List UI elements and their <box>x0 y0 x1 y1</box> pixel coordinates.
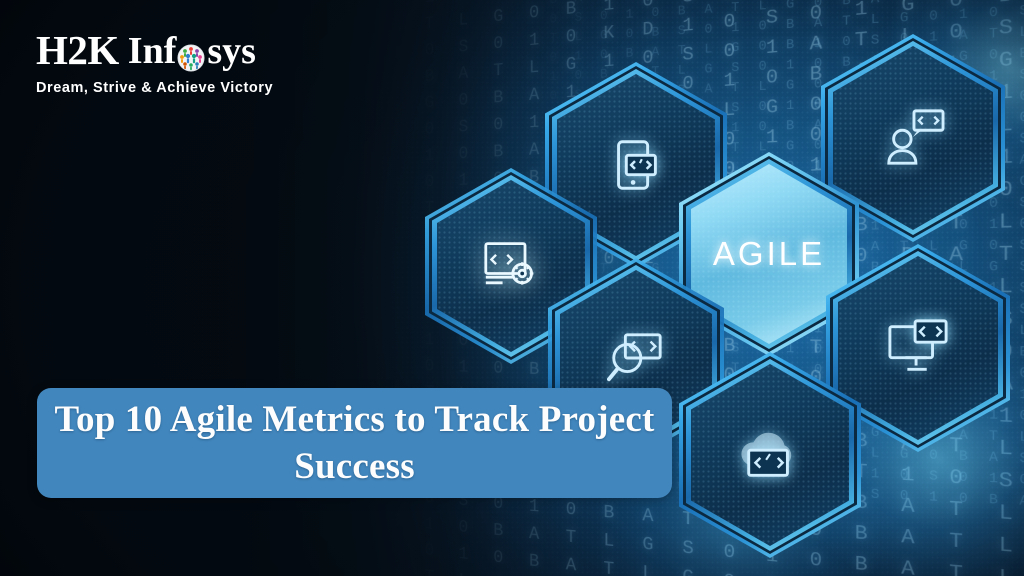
brand-logo[interactable]: H2K Inf <box>36 30 273 96</box>
page-title: Top 10 Agile Metrics to Track Project Su… <box>37 396 672 491</box>
logo-text-inf: Inf <box>128 32 177 70</box>
logo-text-h2k: H2K <box>36 30 119 71</box>
logo-wordmark: H2K Inf <box>36 30 273 71</box>
logo-text-sys: sys <box>207 32 256 70</box>
banner-image: 1 0 A T L G 0 B A T L 0 1 S 0 1 0 B A T … <box>0 0 1024 576</box>
title-banner: Top 10 Agile Metrics to Track Project Su… <box>37 388 672 498</box>
logo-tagline: Dream, Strive & Achieve Victory <box>36 80 273 96</box>
people-globe-icon <box>177 39 205 67</box>
